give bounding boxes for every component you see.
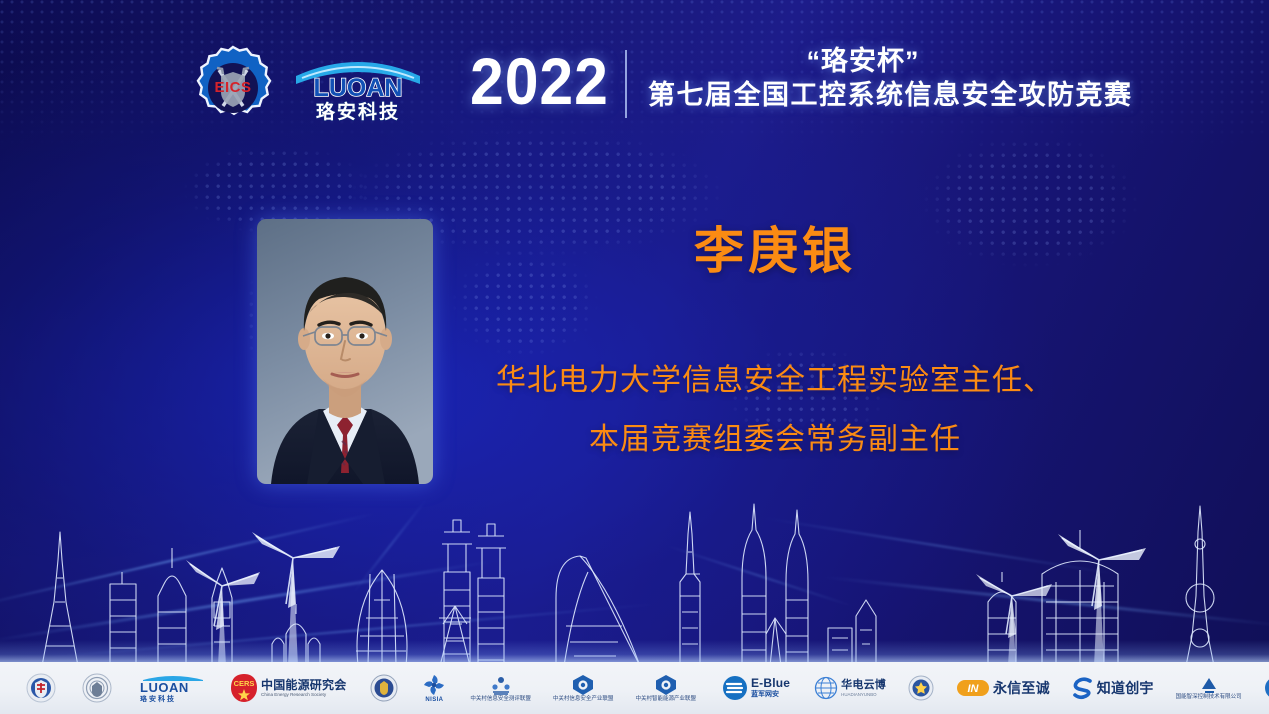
burj-al-arab bbox=[556, 556, 640, 666]
sponsor-emblem-2 bbox=[78, 667, 116, 709]
eics-logo-icon: EICS bbox=[189, 44, 277, 132]
wind-turbine-4 bbox=[1058, 534, 1146, 666]
oriental-pearl-tower bbox=[1186, 506, 1214, 666]
svg-text:IN: IN bbox=[967, 683, 979, 695]
chrysler-building bbox=[158, 548, 186, 666]
svg-text:LUOAN: LUOAN bbox=[314, 74, 403, 102]
sponsor-eblue-sub: 蓝军网安 bbox=[751, 691, 790, 699]
sponsor-eblue-wordmark: E-Blue bbox=[751, 677, 790, 690]
petronas-towers bbox=[742, 504, 808, 666]
twin-industrial-towers bbox=[442, 520, 506, 666]
sponsor-cers-cn: 中国能源研究会 bbox=[261, 679, 346, 692]
svg-text:EICS: EICS bbox=[214, 79, 251, 96]
wind-turbine-2 bbox=[252, 532, 340, 666]
slide-header: EICS LUOAN 珞安科技 2022 “珞安杯” 第七届全国工控系统信息安全… bbox=[0, 0, 1269, 150]
wind-turbine-3 bbox=[976, 574, 1052, 666]
sponsor-luoan-sub: 珞安科技 bbox=[140, 696, 206, 704]
sponsor-cn-alliance-2-sub: 中关村智能能源产业联盟 bbox=[635, 696, 696, 702]
sponsor-luoan: LUOAN 珞安科技 bbox=[136, 667, 210, 709]
speaker-photo-frame bbox=[257, 219, 433, 484]
svg-text:CERS: CERS bbox=[234, 679, 255, 688]
eiffel-tower bbox=[42, 532, 78, 666]
office-tower-left bbox=[110, 572, 136, 666]
sponsor-nisia-wordmark: NISIA bbox=[425, 697, 443, 704]
speaker-name: 李庚银 bbox=[455, 224, 1095, 279]
sponsor-eblue: E-Blue 蓝军网安 bbox=[718, 667, 794, 709]
sponsor-cn-alliance-2: 中关村智能能源产业联盟 bbox=[631, 667, 700, 709]
sponsor-cn-alliance-1: 中关村信息安全测评联盟 bbox=[466, 667, 535, 709]
sponsor-emblem-5 bbox=[366, 667, 402, 709]
event-year: 2022 bbox=[470, 48, 609, 114]
sponsor-huadianyunbo-en: HUADIANYUNBO bbox=[841, 692, 886, 697]
sponsor-cers: CERS 中国能源研究会 China Energy Research Socie… bbox=[226, 667, 350, 709]
sponsor-guoneng-zhishen: 国能智深控制技术有限公司 bbox=[1172, 667, 1246, 709]
speaker-role-line-1: 华北电力大学信息安全工程实验室主任、 bbox=[455, 352, 1095, 411]
sponsor-emblem-12 bbox=[904, 667, 938, 709]
svg-text:珞安科技: 珞安科技 bbox=[316, 100, 400, 123]
sponsor-cers-en: China Energy Research Society bbox=[261, 692, 346, 697]
luoan-logo-icon: LUOAN 珞安科技 bbox=[288, 52, 428, 124]
sponsor-huadianyunbo-cn: 华电云博 bbox=[841, 679, 886, 691]
header-divider bbox=[625, 50, 627, 118]
sponsor-cn-alliance-1-sub: 中关村信息安全测评联盟 bbox=[470, 696, 531, 702]
presentation-slide: EICS LUOAN 珞安科技 2022 “珞安杯” 第七届全国工控系统信息安全… bbox=[0, 0, 1269, 714]
sponsor-logo-bar: LUOAN 珞安科技 CERS 中国能源研究会 China Energy Res… bbox=[0, 662, 1269, 714]
domed-tower bbox=[988, 572, 1016, 666]
modern-glass-tower bbox=[1042, 530, 1118, 666]
city-skyline-illustration bbox=[0, 486, 1269, 666]
sponsor-cisia: 中关村信息安全产业联盟 bbox=[549, 667, 618, 709]
the-gherkin bbox=[356, 570, 407, 666]
pagoda-tower bbox=[856, 600, 876, 666]
orthodox-church bbox=[272, 604, 320, 666]
sponsor-guoneng-sub: 国能智深控制技术有限公司 bbox=[1176, 694, 1242, 700]
event-full-title: 第七届全国工控系统信息安全攻防竞赛 bbox=[648, 80, 1078, 111]
sponsor-eics-shield bbox=[22, 667, 60, 709]
event-title-block: “珞安杯” 第七届全国工控系统信息安全攻防竞赛 bbox=[648, 46, 1078, 111]
speaker-role-line-2: 本届竞赛组委会常务副主任 bbox=[455, 411, 1095, 470]
sponsor-yongxinzhicheng: IN 永信至诚 bbox=[952, 667, 1054, 709]
speaker-role: 华北电力大学信息安全工程实验室主任、 本届竞赛组委会常务副主任 bbox=[455, 352, 1095, 469]
sponsor-luoan-wordmark: LUOAN bbox=[140, 681, 206, 695]
sponsor-zhidaochuangyu: 知道创宇 bbox=[1068, 667, 1158, 709]
wind-turbine-1 bbox=[186, 560, 260, 666]
low-block-1 bbox=[828, 628, 852, 666]
empire-state-building bbox=[680, 512, 700, 666]
sponsor-zhidaochuangyu-cn: 知道创宇 bbox=[1097, 678, 1154, 698]
sponsor-nisia: NISIA bbox=[418, 667, 450, 709]
sponsor-cisia-sub: 中关村信息安全产业联盟 bbox=[553, 696, 614, 702]
transmission-tower bbox=[439, 606, 471, 666]
speaker-portrait-photo bbox=[257, 219, 433, 484]
sponsor-techstar: 恒泰实达 E-TECHSTAR bbox=[1260, 667, 1269, 709]
big-ben bbox=[212, 568, 232, 666]
event-cup-name: “珞安杯” bbox=[648, 46, 1078, 77]
sponsor-yongxinzhicheng-cn: 永信至诚 bbox=[993, 678, 1050, 698]
sponsor-huadianyunbo: 华电云博 HUADIANYUNBO bbox=[810, 667, 890, 709]
